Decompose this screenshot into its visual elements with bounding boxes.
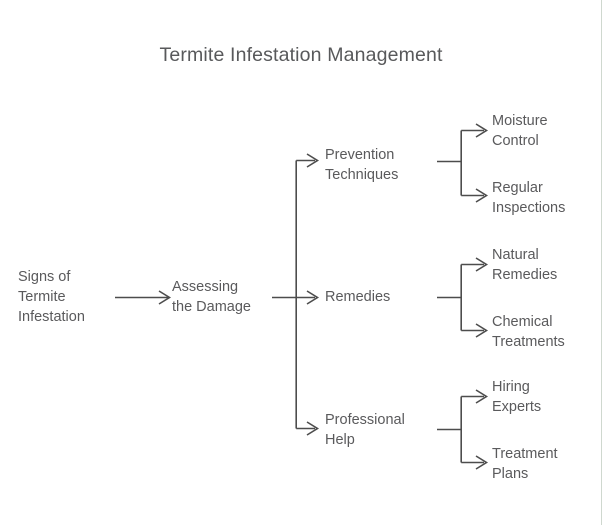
edge-trunk-to-professional [296,422,317,435]
edge-trunk-to-prevention [296,154,317,167]
node-prevention-techniques[interactable]: Prevention Techniques [325,145,398,185]
node-moisture-control[interactable]: Moisture Control [492,111,548,151]
node-hiring-experts[interactable]: Hiring Experts [492,377,541,417]
node-professional-help[interactable]: Professional Help [325,410,405,450]
node-signs-of-termite-infestation[interactable]: Signs of Termite Infestation [18,267,85,327]
diagram-canvas: Termite Infestation Management [0,0,602,525]
edge-professional-subtree [437,390,487,469]
edge-trunk-to-remedies [296,291,317,304]
node-natural-remedies[interactable]: Natural Remedies [492,245,557,285]
node-treatment-plans[interactable]: Treatment Plans [492,444,558,484]
node-remedies[interactable]: Remedies [325,287,390,307]
edge-prevention-subtree [437,124,487,202]
edge-signs-to-assessing [115,291,170,304]
node-assessing-the-damage[interactable]: Assessing the Damage [172,277,251,317]
node-chemical-treatments[interactable]: Chemical Treatments [492,312,565,352]
node-regular-inspections[interactable]: Regular Inspections [492,178,565,218]
edge-remedies-subtree [437,258,487,337]
